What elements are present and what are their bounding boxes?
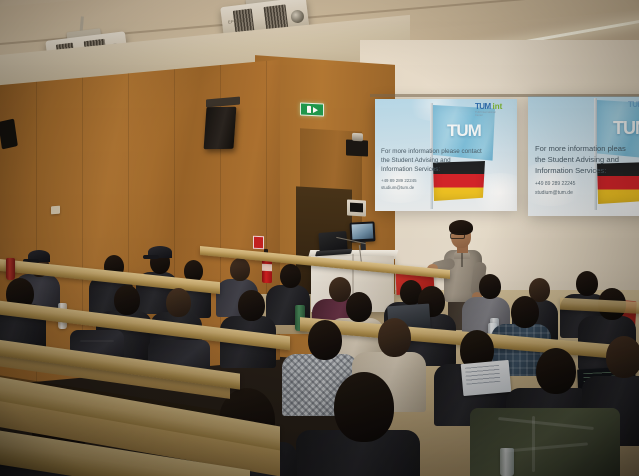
wall-speaker-icon bbox=[204, 107, 237, 150]
projection-screen-right: TUM For more information pleas the Stude… bbox=[528, 96, 639, 216]
av-control-panel[interactable] bbox=[347, 200, 366, 217]
tum-int-logo-right: TUM int bbox=[628, 100, 639, 109]
tum-logo-tagline-left: TUM International Center bbox=[475, 111, 502, 117]
slide-left-phone: +49 89 289 22245 bbox=[381, 177, 491, 184]
baseball-cap bbox=[28, 250, 50, 262]
slide-left-email: studium@tum.de bbox=[381, 184, 491, 191]
light-switch[interactable] bbox=[51, 206, 60, 215]
tum-wordmark-right: TUM bbox=[628, 100, 639, 109]
slide-right-phone: +49 89 289 22245 bbox=[535, 180, 639, 189]
tum-wordmark-left: TUM bbox=[475, 102, 491, 111]
backpack bbox=[470, 408, 620, 476]
slide-left-line1: For more information please contact bbox=[381, 147, 499, 156]
presenter-laptop[interactable] bbox=[318, 231, 347, 253]
presenter-glasses bbox=[450, 233, 465, 239]
presenter-zip bbox=[461, 253, 463, 267]
tum-int-logo-left: TUM int TUM International Center bbox=[475, 102, 502, 111]
slide-left-contact: +49 89 289 22245 studium@tum.de bbox=[381, 177, 491, 192]
slide-right-email: studium@tum.de bbox=[535, 189, 639, 198]
water-bottle bbox=[500, 448, 514, 476]
laptop-white-screen[interactable] bbox=[461, 360, 512, 396]
slide-right-line1: For more information pleas bbox=[535, 143, 639, 154]
projection-screen-left: TUM For more information please contact … bbox=[375, 99, 517, 211]
slide-right-contact: +49 89 289 22245 studium@tum.de bbox=[535, 180, 639, 198]
slide-right-line3: Information Services: bbox=[535, 165, 639, 176]
lecture-hall-photo: EPSON EPSON TUM bbox=[0, 0, 639, 476]
tum-flag-mark-right: TUM bbox=[613, 118, 639, 139]
screen-mount-bar bbox=[370, 94, 639, 97]
int-wordmark-left: int bbox=[493, 102, 503, 111]
confidence-monitor bbox=[349, 221, 375, 242]
slide-right-text: For more information pleas the Student A… bbox=[535, 143, 639, 176]
slide-right-line2: the Student Advising and bbox=[535, 154, 639, 165]
beanie-cap bbox=[148, 246, 172, 258]
emergency-exit-icon bbox=[300, 102, 324, 116]
tum-flag-mark: TUM bbox=[447, 121, 481, 141]
water-bottle bbox=[6, 258, 15, 280]
fire-extinguisher-sign-icon bbox=[253, 236, 264, 250]
slide-left-line2: the Student Advising and bbox=[381, 156, 499, 165]
slide-left-text: For more information please contact the … bbox=[381, 147, 499, 174]
lecture-capture-camera-icon bbox=[346, 139, 368, 156]
slide-left-line3: Information Services: bbox=[381, 165, 499, 174]
